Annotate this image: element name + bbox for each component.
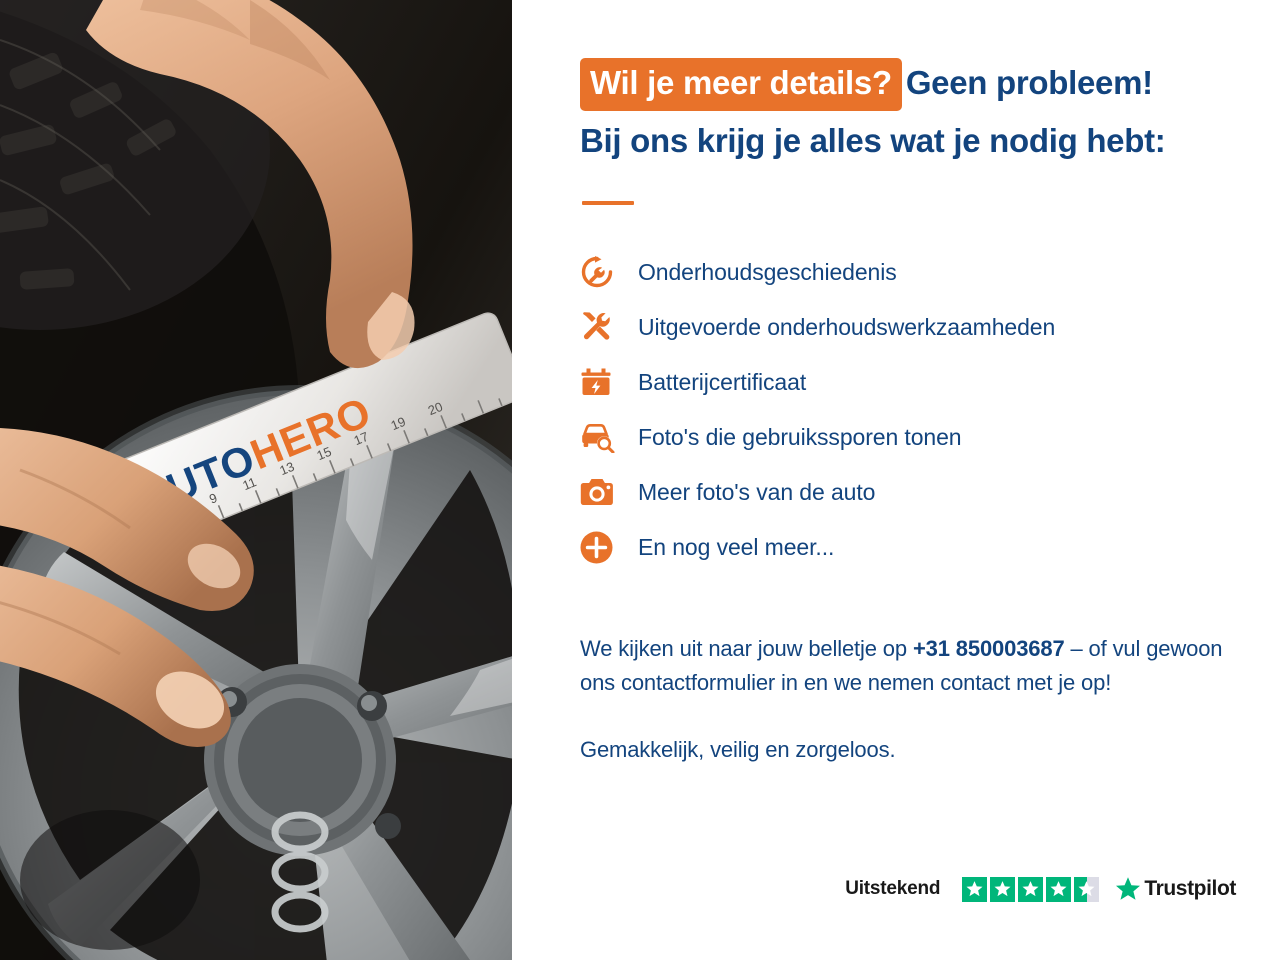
- feature-label: Uitgevoerde onderhoudswerkzaamheden: [624, 314, 1055, 341]
- feature-label: En nog veel meer...: [624, 534, 834, 561]
- promo-page: AUTO HERO: [0, 0, 1280, 960]
- trustpilot-rating[interactable]: Uitstekend: [845, 876, 1236, 902]
- plus-circle-icon: [580, 527, 624, 567]
- trustpilot-rating-word: Uitstekend: [845, 878, 940, 900]
- feature-item-maintenance-work: Uitgevoerde onderhoudswerkzaamheden: [580, 300, 1236, 354]
- contact-paragraph: We kijken uit naar jouw belletje op +31 …: [580, 632, 1236, 699]
- feature-label: Meer foto's van de auto: [624, 479, 875, 506]
- trustpilot-stars: [962, 877, 1099, 902]
- feature-label: Onderhoudsgeschiedenis: [624, 259, 897, 286]
- headline-line-2: Bij ons krijg je alles wat je nodig hebt…: [580, 118, 1236, 164]
- feature-item-wear-photos: Foto's die gebruikssporen tonen: [580, 410, 1236, 464]
- content-panel: Wil je meer details?Geen probleem! Bij o…: [512, 0, 1280, 960]
- hero-photo: AUTO HERO: [0, 0, 512, 960]
- feature-item-battery-certificate: Batterijcertificaat: [580, 355, 1236, 409]
- trustpilot-brand-name: Trustpilot: [1144, 877, 1236, 901]
- star-icon: [962, 877, 987, 902]
- star-icon: [1046, 877, 1071, 902]
- battery-icon: [580, 362, 624, 402]
- headline-rest: Geen probleem!: [906, 64, 1153, 101]
- tagline: Gemakkelijk, veilig en zorgeloos.: [580, 733, 1236, 766]
- headline-badge: Wil je meer details?: [580, 58, 902, 111]
- car-inspection-icon: [580, 417, 624, 457]
- tools-icon: [580, 307, 624, 347]
- camera-icon: [580, 472, 624, 512]
- feature-item-maintenance-history: Onderhoudsgeschiedenis: [580, 245, 1236, 299]
- hero-photo-illustration: AUTO HERO: [0, 0, 512, 960]
- phone-number: +31 850003687: [913, 636, 1065, 661]
- contact-text-before: We kijken uit naar jouw belletje op: [580, 636, 913, 661]
- feature-item-more-photos: Meer foto's van de auto: [580, 465, 1236, 519]
- page-title: Wil je meer details?Geen probleem! Bij o…: [580, 58, 1236, 163]
- orange-divider: [582, 201, 634, 205]
- feature-label: Foto's die gebruikssporen tonen: [624, 424, 962, 451]
- half-star-icon: [1074, 877, 1099, 902]
- star-icon: [1018, 877, 1043, 902]
- maintenance-history-icon: [580, 252, 624, 292]
- trustpilot-star-icon: [1115, 876, 1141, 902]
- feature-list: Onderhoudsgeschiedenis Uitgevoerde onder…: [580, 245, 1236, 574]
- star-icon: [990, 877, 1015, 902]
- contact-text-block: We kijken uit naar jouw belletje op +31 …: [580, 632, 1236, 766]
- feature-label: Batterijcertificaat: [624, 369, 806, 396]
- trustpilot-logo: Trustpilot: [1115, 876, 1236, 902]
- feature-item-and-more: En nog veel meer...: [580, 520, 1236, 574]
